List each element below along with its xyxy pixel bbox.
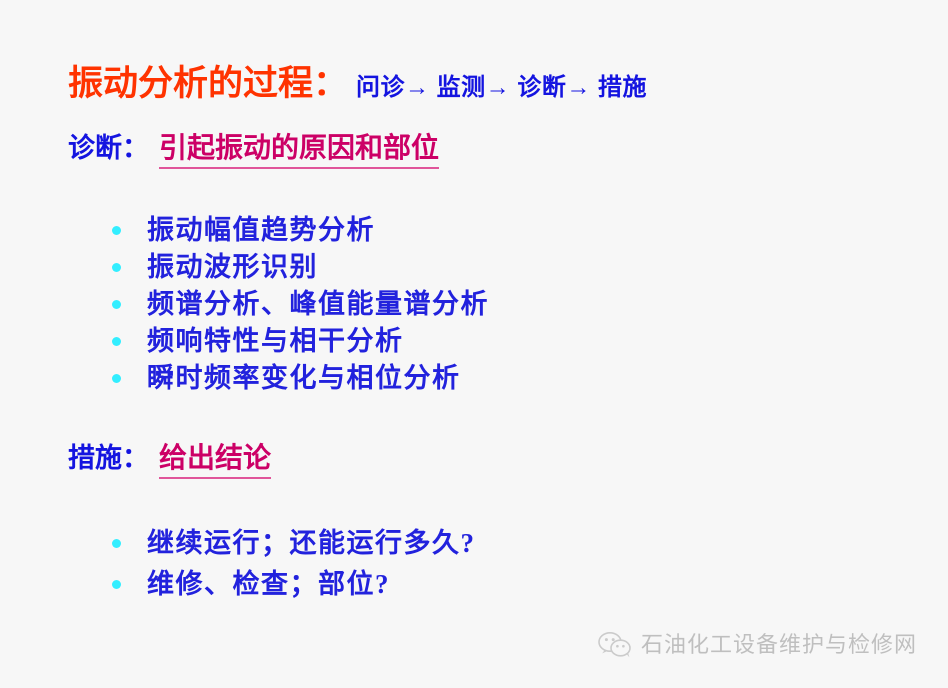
bullet-dot-icon bbox=[112, 580, 121, 589]
section-label-diagnosis: 诊断： bbox=[68, 135, 149, 162]
list-item-label: 振动幅值趋势分析 bbox=[147, 217, 375, 244]
bullet-dot-icon bbox=[112, 374, 121, 383]
list-item-label: 频谱分析、峰值能量谱分析 bbox=[147, 291, 489, 318]
list-item-label: 频响特性与相干分析 bbox=[147, 328, 404, 355]
bullet-dot-icon bbox=[112, 226, 121, 235]
list-item: 维修、检查；部位? bbox=[112, 564, 476, 605]
slide-title: 振动分析的过程： 问诊→ 监测→ 诊断→ 措施 bbox=[68, 66, 647, 101]
section-value-measures: 给出结论 bbox=[159, 444, 271, 479]
page-title: 振动分析的过程： bbox=[68, 66, 348, 101]
list-item-label: 振动波形识别 bbox=[147, 254, 318, 281]
watermark-label: 石油化工设备维护与检修网 bbox=[641, 634, 917, 656]
list-item: 频谱分析、峰值能量谱分析 bbox=[112, 286, 489, 323]
bullet-dot-icon bbox=[112, 337, 121, 346]
process-flow-steps: 问诊→ 监测→ 诊断→ 措施 bbox=[356, 76, 647, 100]
bullet-list-diagnosis: 振动幅值趋势分析 振动波形识别 频谱分析、峰值能量谱分析 频响特性与相干分析 瞬… bbox=[112, 212, 489, 397]
list-item-label: 瞬时频率变化与相位分析 bbox=[147, 365, 461, 392]
list-item: 瞬时频率变化与相位分析 bbox=[112, 360, 489, 397]
section-label-measures: 措施： bbox=[68, 445, 149, 472]
list-item: 继续运行；还能运行多久? bbox=[112, 523, 476, 564]
bullet-list-measures: 继续运行；还能运行多久? 维修、检查；部位? bbox=[112, 523, 476, 605]
list-item: 振动幅值趋势分析 bbox=[112, 212, 489, 249]
bullet-dot-icon bbox=[112, 539, 121, 548]
list-item-label: 维修、检查；部位? bbox=[147, 571, 390, 598]
watermark: 石油化工设备维护与检修网 bbox=[598, 631, 917, 659]
section-heading-diagnosis: 诊断： 引起振动的原因和部位 bbox=[68, 134, 439, 169]
bullet-dot-icon bbox=[112, 300, 121, 309]
section-value-diagnosis: 引起振动的原因和部位 bbox=[159, 134, 439, 169]
slide-canvas: 振动分析的过程： 问诊→ 监测→ 诊断→ 措施 诊断： 引起振动的原因和部位 振… bbox=[0, 0, 948, 688]
wechat-logo-icon bbox=[598, 631, 632, 659]
section-heading-measures: 措施： 给出结论 bbox=[68, 444, 271, 479]
list-item: 频响特性与相干分析 bbox=[112, 323, 489, 360]
bullet-dot-icon bbox=[112, 263, 121, 272]
list-item-label: 继续运行；还能运行多久? bbox=[147, 530, 476, 557]
list-item: 振动波形识别 bbox=[112, 249, 489, 286]
